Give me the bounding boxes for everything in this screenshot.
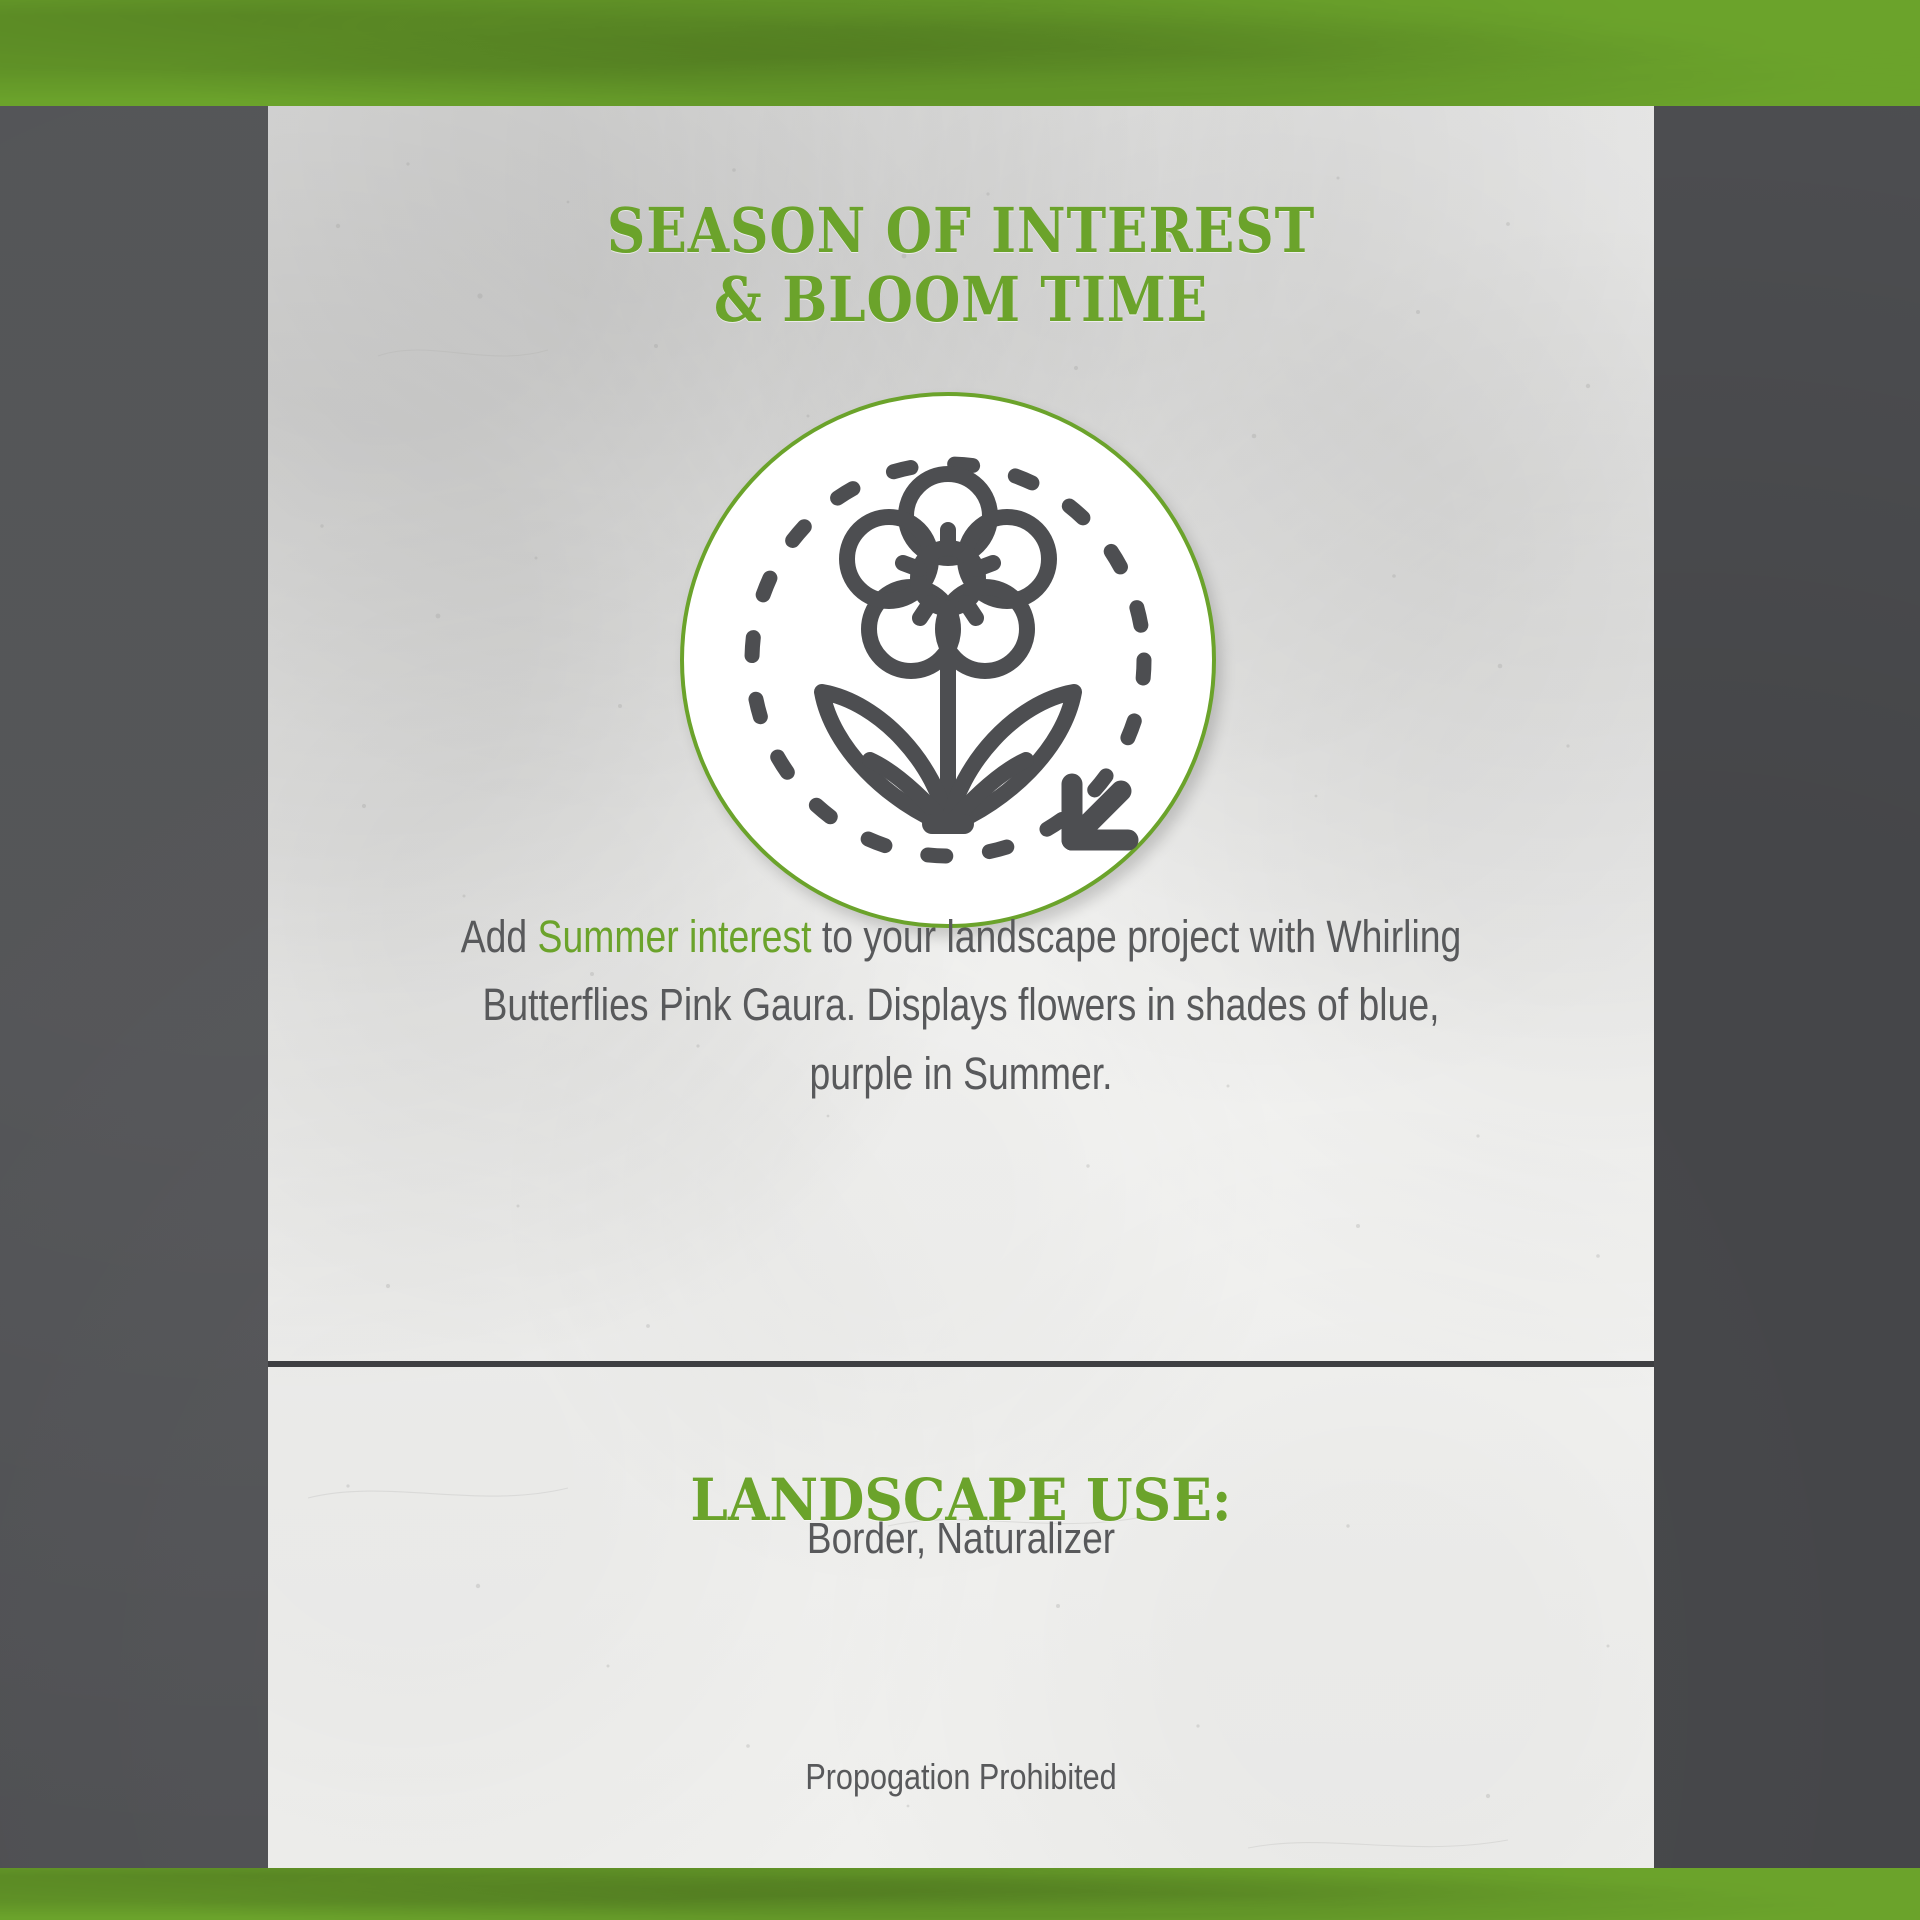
card-inner: SEASON OF INTEREST & BLOOM TIME	[268, 106, 1654, 1868]
bottom-green-band	[0, 1868, 1920, 1920]
section-divider	[268, 1361, 1654, 1367]
description-part-1: Add	[461, 911, 538, 962]
season-icon-badge	[680, 392, 1216, 928]
page-title: SEASON OF INTEREST & BLOOM TIME	[365, 196, 1557, 335]
flower-icon	[822, 474, 1074, 826]
landscape-use-value: Border, Naturalizer	[379, 1514, 1543, 1564]
page-title-line-1: SEASON OF INTEREST	[365, 196, 1557, 265]
page-title-line-2: & BLOOM TIME	[365, 265, 1557, 334]
flower-bloom-cycle-icon	[680, 392, 1216, 928]
top-green-band	[0, 0, 1920, 106]
description-highlight: Summer interest	[538, 911, 812, 962]
poster-root: SEASON OF INTEREST & BLOOM TIME	[0, 0, 1920, 1920]
propagation-note: Propogation Prohibited	[372, 1756, 1550, 1798]
content-card: SEASON OF INTEREST & BLOOM TIME	[268, 106, 1654, 1868]
description-paragraph: Add Summer interest to your landscape pr…	[427, 903, 1494, 1108]
